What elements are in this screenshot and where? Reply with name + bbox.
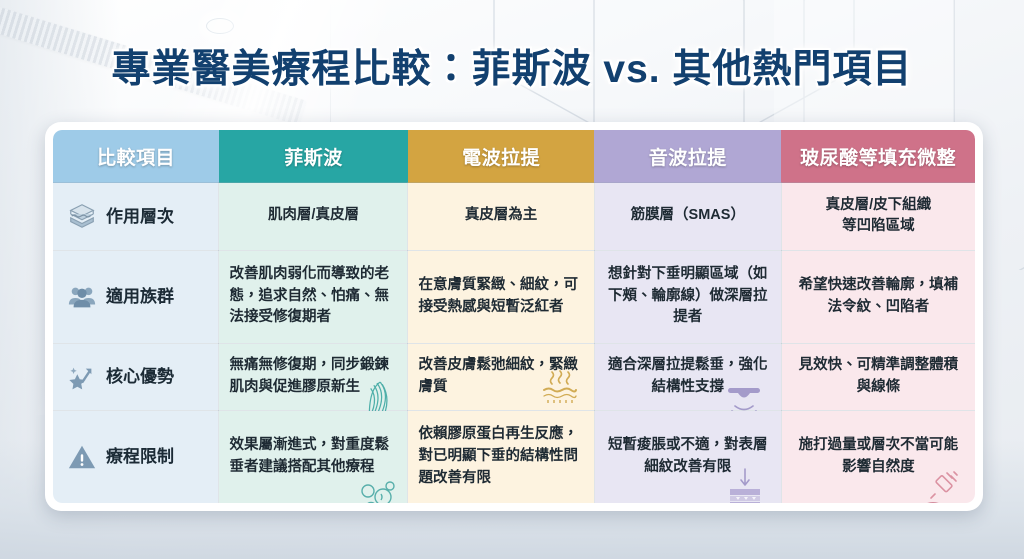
table-row: 適用族群 改善肌肉弱化而導致的老態，追求自然、怕痛、無法接受修復期者 在意膚質緊… (53, 250, 975, 343)
cell-text: 適合深層拉提鬆垂，強化結構性支撐 (605, 355, 771, 399)
header-cell-rf: 電波拉提 (408, 130, 594, 183)
cell-text: 短暫痠脹或不適，對表層細紋改善有限 (605, 435, 771, 479)
cell-text: 依賴膠原蛋白再生反應，對已明顯下垂的結構性問題改善有限 (418, 424, 583, 489)
molecule-bubbles-icon (357, 477, 399, 503)
skin-layers-icon (67, 201, 97, 231)
cell-limitation-filler: 施打過量或層次不當可能影響自然度 (781, 411, 975, 503)
row-label-text: 療程限制 (106, 444, 174, 470)
cell-audience-ultrasound: 想針對下垂明顯區域（如下頰、輪廓線）做深層拉提者 (594, 250, 781, 343)
cell-text: 見效快、可精準調整體積與線條 (792, 355, 965, 399)
cell-advantage-ultrasound: 適合深層拉提鬆垂，強化結構性支撐 (594, 343, 781, 411)
row-label-cell-layer: 作用層次 (53, 183, 219, 251)
cell-audience-rf: 在意膚質緊緻、細紋，可接受熱感與短暫泛紅者 (408, 250, 594, 343)
cell-text: 改善皮膚鬆弛細紋，緊緻膚質 (418, 355, 583, 399)
cell-advantage-rf: 改善皮膚鬆弛細紋，緊緻膚質 (408, 343, 594, 411)
cell-layer-rf: 真皮層為主 (408, 183, 594, 251)
page-title: 專業醫美療程比較：菲斯波 vs. 其他熱門項目 (0, 38, 1024, 94)
row-label-text: 適用族群 (106, 284, 174, 310)
table-header-row: 比較項目 菲斯波 電波拉提 音波拉提 玻尿酸等填充微整 (53, 130, 975, 183)
row-label-cell-limitation: 療程限制 (53, 411, 219, 503)
star-arrow-icon (67, 362, 97, 392)
cell-limitation-fisbo: 效果屬漸進式，對重度鬆垂者建議搭配其他療程 (219, 411, 408, 503)
cell-layer-fisbo: 肌肉層/真皮層 (219, 183, 408, 251)
cell-limitation-rf: 依賴膠原蛋白再生反應，對已明顯下垂的結構性問題改善有限 (408, 411, 594, 503)
cell-text: 真皮層/皮下組織 等凹陷區域 (792, 195, 965, 239)
cell-text: 筋膜層（SMAS） (605, 205, 771, 227)
warning-triangle-icon (67, 442, 97, 472)
cell-advantage-fisbo: 無痛無修復期，同步鍛鍊肌肉與促進膠原新生 (219, 343, 408, 411)
cell-text: 肌肉層/真皮層 (229, 205, 397, 227)
cell-audience-fisbo: 改善肌肉弱化而導致的老態，追求自然、怕痛、無法接受修復期者 (219, 250, 408, 343)
table-row: 核心優勢 無痛無修復期，同步鍛鍊肌肉與促進膠原新生 (53, 343, 975, 411)
cell-text: 在意膚質緊緻、細紋，可接受熱感與短暫泛紅者 (418, 275, 583, 319)
cell-text: 改善肌肉弱化而導致的老態，追求自然、怕痛、無法接受修復期者 (229, 264, 397, 329)
cell-layer-filler: 真皮層/皮下組織 等凹陷區域 (781, 183, 975, 251)
row-label-cell-audience: 適用族群 (53, 250, 219, 343)
people-group-icon (67, 282, 97, 312)
cell-text: 真皮層為主 (418, 205, 583, 227)
cell-text: 施打過量或層次不當可能影響自然度 (792, 435, 965, 479)
row-label-text: 核心優勢 (106, 364, 174, 390)
cell-layer-ultrasound: 筋膜層（SMAS） (594, 183, 781, 251)
cell-audience-filler: 希望快速改善輪廓，填補法令紋、凹陷者 (781, 250, 975, 343)
table-row: 療程限制 效果屬漸進式，對重度鬆垂者建議搭配其他療程 (53, 411, 975, 503)
cell-text: 希望快速改善輪廓，填補法令紋、凹陷者 (792, 275, 965, 319)
cell-limitation-ultrasound: 短暫痠脹或不適，對表層細紋改善有限 (594, 411, 781, 503)
comparison-table-card: 比較項目 菲斯波 電波拉提 音波拉提 玻尿酸等填充微整 (45, 122, 983, 511)
cell-text: 無痛無修復期，同步鍛鍊肌肉與促進膠原新生 (229, 355, 397, 399)
header-cell-filler: 玻尿酸等填充微整 (781, 130, 975, 183)
comparison-table: 比較項目 菲斯波 電波拉提 音波拉提 玻尿酸等填充微整 (53, 130, 975, 503)
header-cell-criteria: 比較項目 (53, 130, 219, 183)
row-label-text: 作用層次 (106, 204, 174, 230)
table-row: 作用層次 肌肉層/真皮層 真皮層為主 筋膜層（SMAS） 真皮層/皮下組織 等凹… (53, 183, 975, 251)
header-cell-ultrasound: 音波拉提 (594, 130, 781, 183)
cell-text: 想針對下垂明顯區域（如下頰、輪廓線）做深層拉提者 (605, 264, 771, 329)
cell-advantage-filler: 見效快、可精準調整體積與線條 (781, 343, 975, 411)
cell-text: 效果屬漸進式，對重度鬆垂者建議搭配其他療程 (229, 435, 397, 479)
row-label-cell-advantage: 核心優勢 (53, 343, 219, 411)
header-cell-fisbo: 菲斯波 (219, 130, 408, 183)
